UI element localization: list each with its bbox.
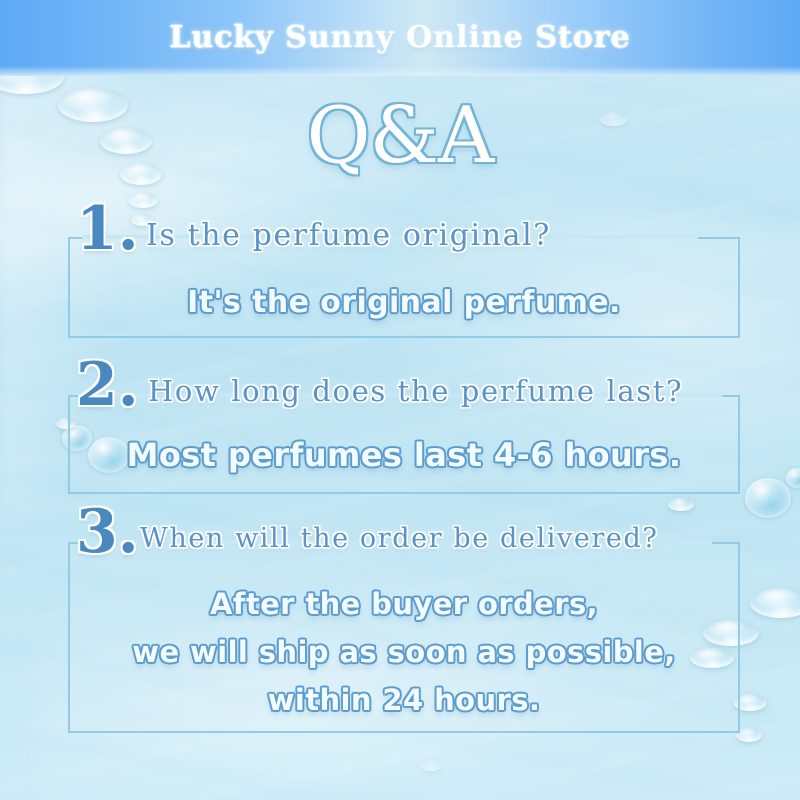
qa-answer-line: Most perfumes last 4-6 hours. bbox=[68, 435, 740, 475]
qa-item-2: 2. How long does the perfume last? Most … bbox=[68, 395, 740, 494]
qa-answer-line: we will ship as soon as possible, bbox=[68, 628, 740, 676]
qa-question-1: Is the perfume original? bbox=[146, 221, 551, 251]
qa-item-3: 3. When will the order be delivered? Aft… bbox=[68, 542, 740, 733]
qa-item-1: 1. Is the perfume original? It's the ori… bbox=[68, 237, 740, 338]
qa-question-2: How long does the perfume last? bbox=[148, 377, 683, 406]
qa-answer-line: After the buyer orders, bbox=[68, 580, 740, 628]
store-title: Lucky Sunny Online Store bbox=[0, 0, 800, 76]
qa-answer-1: It's the original perfume. bbox=[68, 283, 740, 323]
qa-number-3: 3. bbox=[76, 502, 139, 562]
water-bubble-icon bbox=[745, 478, 791, 518]
qa-number-2: 2. bbox=[76, 355, 139, 415]
qa-answer-line: within 24 hours. bbox=[68, 676, 740, 724]
qa-number-1: 1. bbox=[76, 199, 139, 259]
qa-infographic-page: Lucky Sunny Online Store Q&A 1. Is the p… bbox=[0, 0, 800, 800]
qa-question-3: When will the order be delivered? bbox=[140, 525, 658, 552]
water-droplet-icon bbox=[420, 760, 442, 771]
page-title: Q&A bbox=[0, 92, 800, 180]
water-droplet-icon bbox=[668, 498, 694, 511]
qa-answer-line: It's the original perfume. bbox=[68, 283, 740, 323]
qa-answer-3: After the buyer orders, we will ship as … bbox=[68, 580, 740, 724]
qa-answer-2: Most perfumes last 4-6 hours. bbox=[68, 435, 740, 475]
